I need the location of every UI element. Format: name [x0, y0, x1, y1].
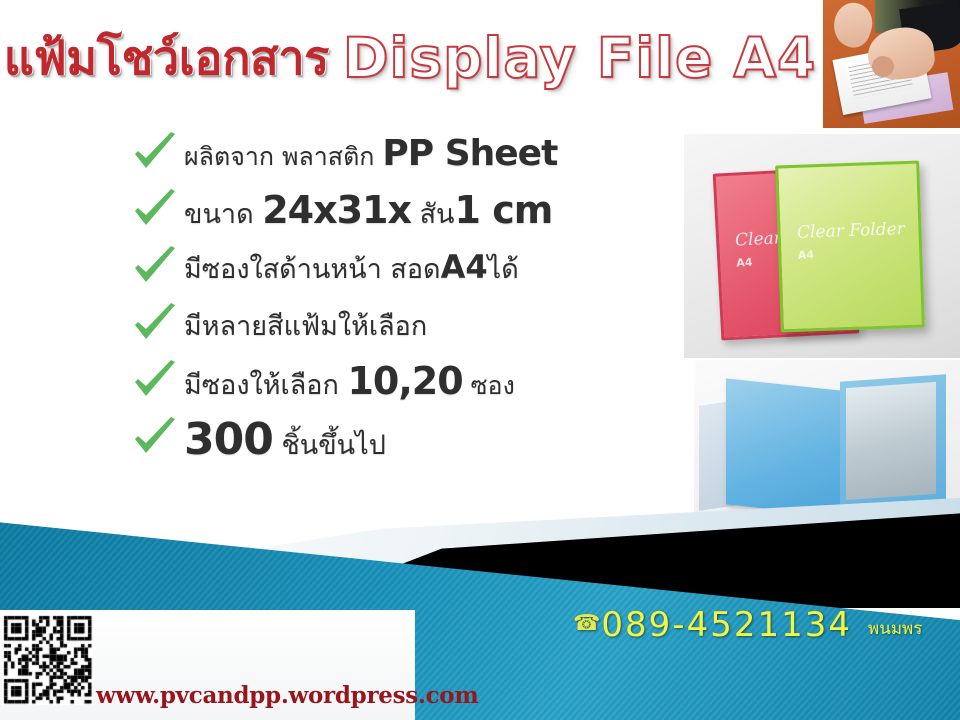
feature-list: ผลิตจาก พลาสติก PP Sheetขนาด 24x31x สัน1…	[132, 126, 677, 468]
poster-canvas: แฟ้มโชว์เอกสาร Display File A4 Clear Fol…	[0, 0, 960, 720]
check-icon	[132, 187, 184, 237]
check-icon	[132, 358, 184, 408]
feature-item: มีซองใสด้านหน้า สอดA4ได้	[132, 240, 677, 297]
contact-name: พนมพร	[868, 621, 922, 638]
phone-icon: ☎	[573, 613, 600, 635]
contact-card: www.pvcandpp.wordpress.com	[0, 610, 415, 720]
qr-code-icon	[2, 614, 90, 706]
website-url[interactable]: www.pvcandpp.wordpress.com	[96, 682, 478, 709]
poster-title: แฟ้มโชว์เอกสาร Display File A4	[0, 20, 820, 95]
feature-item: ขนาด 24x31x สัน1 cm	[132, 183, 677, 240]
folder-size-label: A4	[736, 255, 753, 269]
check-icon	[132, 415, 184, 465]
feature-text: มีซองใสด้านหน้า สอดA4ได้	[184, 247, 519, 290]
feature-text: มีหลายสีแฟ้มให้เลือก	[184, 304, 427, 347]
feature-item: 300 ชิ้นขึ้นไป	[132, 411, 677, 468]
feature-text: ขนาด 24x31x สัน1 cm	[184, 188, 552, 235]
phone-number[interactable]: 089-4521134	[601, 608, 852, 642]
title-thai: แฟ้มโชว์เอกสาร	[4, 20, 329, 95]
feature-text: 300 ชิ้นขึ้นไป	[184, 414, 386, 466]
feature-item: มีซองให้เลือก 10,20 ซอง	[132, 354, 677, 411]
feature-text: ผลิตจาก พลาสติก PP Sheet	[184, 133, 557, 177]
folder-brand-label-green: Clear Folder	[797, 219, 905, 243]
check-icon	[132, 244, 184, 294]
title-english: Display File A4	[343, 26, 816, 90]
feature-item: มีหลายสีแฟ้มให้เลือก	[132, 297, 677, 354]
check-icon	[132, 130, 184, 180]
feature-item: ผลิตจาก พลาสติก PP Sheet	[132, 126, 677, 183]
hands-inserting-documents-photo	[823, 0, 960, 128]
pink-green-folders-photo: Clear Folder A4 Clear Folder A4	[684, 134, 960, 358]
phone-contact: ☎ 089-4521134 พนมพร	[573, 608, 922, 642]
folder-size-label-green: A4	[797, 248, 814, 262]
check-icon	[132, 301, 184, 351]
folder-left-cover	[726, 378, 851, 517]
green-folder: Clear Folder A4	[775, 161, 925, 333]
clear-sleeve	[846, 381, 936, 499]
feature-text: มีซองให้เลือก 10,20 ซอง	[184, 359, 515, 406]
thumb	[872, 56, 894, 76]
